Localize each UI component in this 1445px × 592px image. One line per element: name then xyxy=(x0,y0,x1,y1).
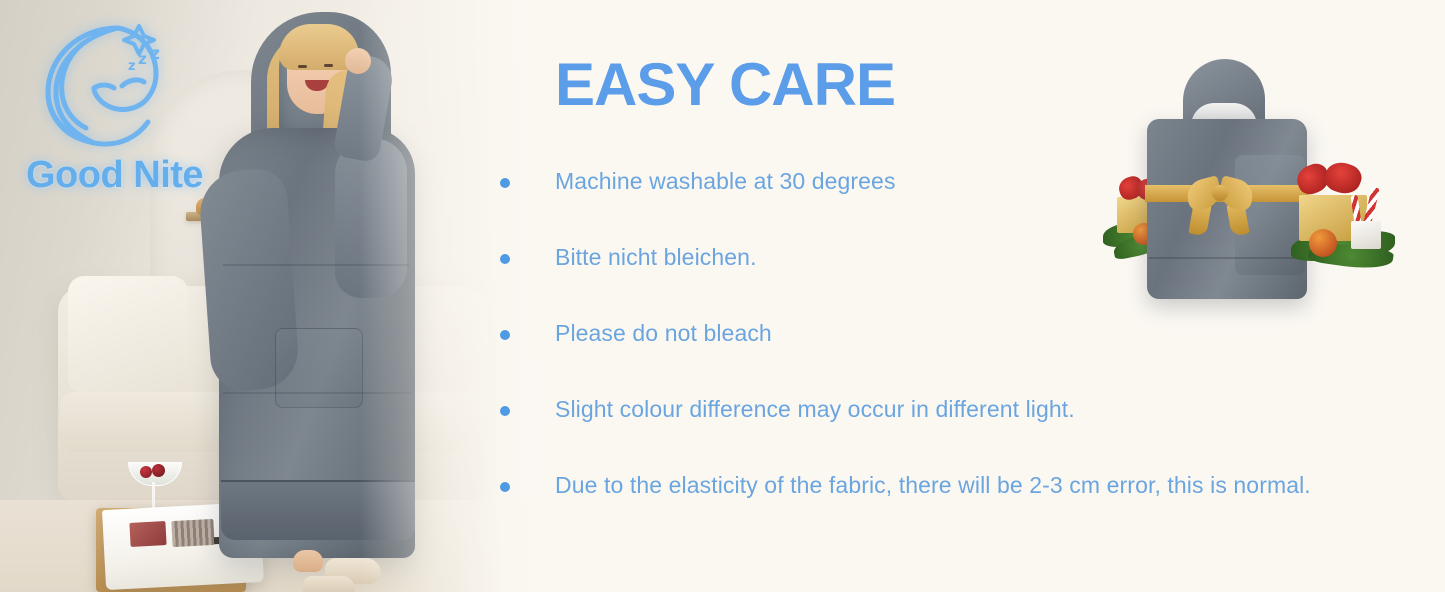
list-item-label: Machine washable at 30 degrees xyxy=(555,168,896,195)
list-item: Please do not bleach xyxy=(500,322,1400,398)
slipper xyxy=(303,576,355,592)
bullet-dot-icon xyxy=(500,178,510,188)
bullet-dot-icon xyxy=(500,330,510,340)
svg-text:z: z xyxy=(128,59,136,74)
list-item-label: Slight colour difference may occur in di… xyxy=(555,396,1075,423)
list-item-label: Please do not bleach xyxy=(555,320,772,347)
crescent-moon-sleeping-face-icon: z z z xyxy=(22,14,202,154)
svg-text:z: z xyxy=(150,44,160,64)
bullet-dot-icon xyxy=(500,406,510,416)
brand-name: Good Nite xyxy=(26,154,226,197)
eye xyxy=(298,65,307,68)
easy-care-banner: z z z Good Nite EASY CARE Machine washab… xyxy=(0,0,1445,592)
bullet-dot-icon xyxy=(500,482,510,492)
cherry xyxy=(140,466,152,478)
product-seam xyxy=(1149,257,1305,259)
cherry xyxy=(152,464,165,477)
brand-logo: z z z Good Nite xyxy=(22,14,222,204)
list-item-label: Due to the elasticity of the fabric, the… xyxy=(555,472,1311,499)
white-gift-box xyxy=(1351,221,1381,249)
list-item-label: Bitte nicht bleichen. xyxy=(555,244,757,271)
list-item: Slight colour difference may occur in di… xyxy=(500,398,1400,474)
sofa-cushion xyxy=(68,276,188,394)
page-title: EASY CARE xyxy=(555,55,895,115)
red-bow xyxy=(1321,158,1365,198)
product-gift-image xyxy=(1095,45,1415,295)
svg-text:z: z xyxy=(138,50,147,68)
christmas-ornament xyxy=(1309,229,1337,257)
list-item: Due to the elasticity of the fabric, the… xyxy=(500,474,1400,550)
bare-foot xyxy=(293,550,323,572)
magazine-image xyxy=(129,521,166,547)
copy-block: EASY CARE Machine washable at 30 degrees… xyxy=(500,0,1120,592)
front-pocket xyxy=(275,328,363,408)
ribbon-bow-knot xyxy=(1212,185,1228,201)
eye xyxy=(324,64,333,67)
bullet-dot-icon xyxy=(500,254,510,264)
